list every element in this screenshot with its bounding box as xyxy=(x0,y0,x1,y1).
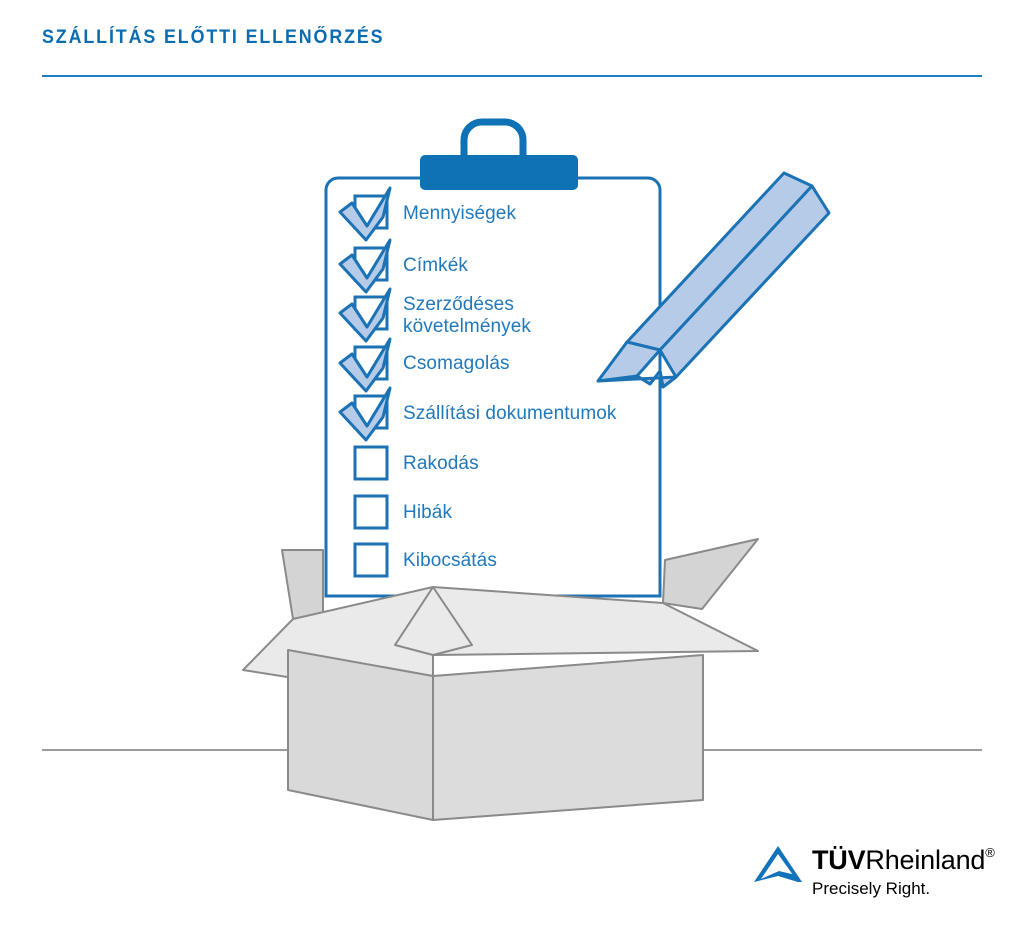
checklist-checkbox-empty-1[interactable] xyxy=(355,447,387,479)
logo-tagline: Precisely Right. xyxy=(812,879,930,899)
illustration xyxy=(0,0,1024,945)
box-face-front xyxy=(433,655,703,820)
tuv-rheinland-logo: TÜVRheinland® Precisely Right. xyxy=(752,843,984,905)
logo-brand-regular: Rheinland xyxy=(865,845,985,875)
logo-brand-bold: TÜV xyxy=(812,845,865,875)
box-face-left xyxy=(288,650,433,820)
page-root: SZÁLLÍTÁS ELŐTTI ELLENŐRZÉS xyxy=(0,0,1024,945)
illustration-svg xyxy=(0,0,1024,945)
clipboard-paper xyxy=(326,178,660,596)
tuv-rheinland-triangle-mark xyxy=(752,845,804,887)
logo-wordmark: TÜVRheinland® xyxy=(812,845,995,875)
box-flap-rear-left xyxy=(282,550,323,619)
checklist-checkbox-empty-3[interactable] xyxy=(355,544,387,576)
checklist-checkbox-empty-2[interactable] xyxy=(355,496,387,528)
logo-registered-mark: ® xyxy=(985,845,995,860)
clipboard-clip-body xyxy=(420,155,578,190)
box-flap-rear-right xyxy=(663,539,758,609)
